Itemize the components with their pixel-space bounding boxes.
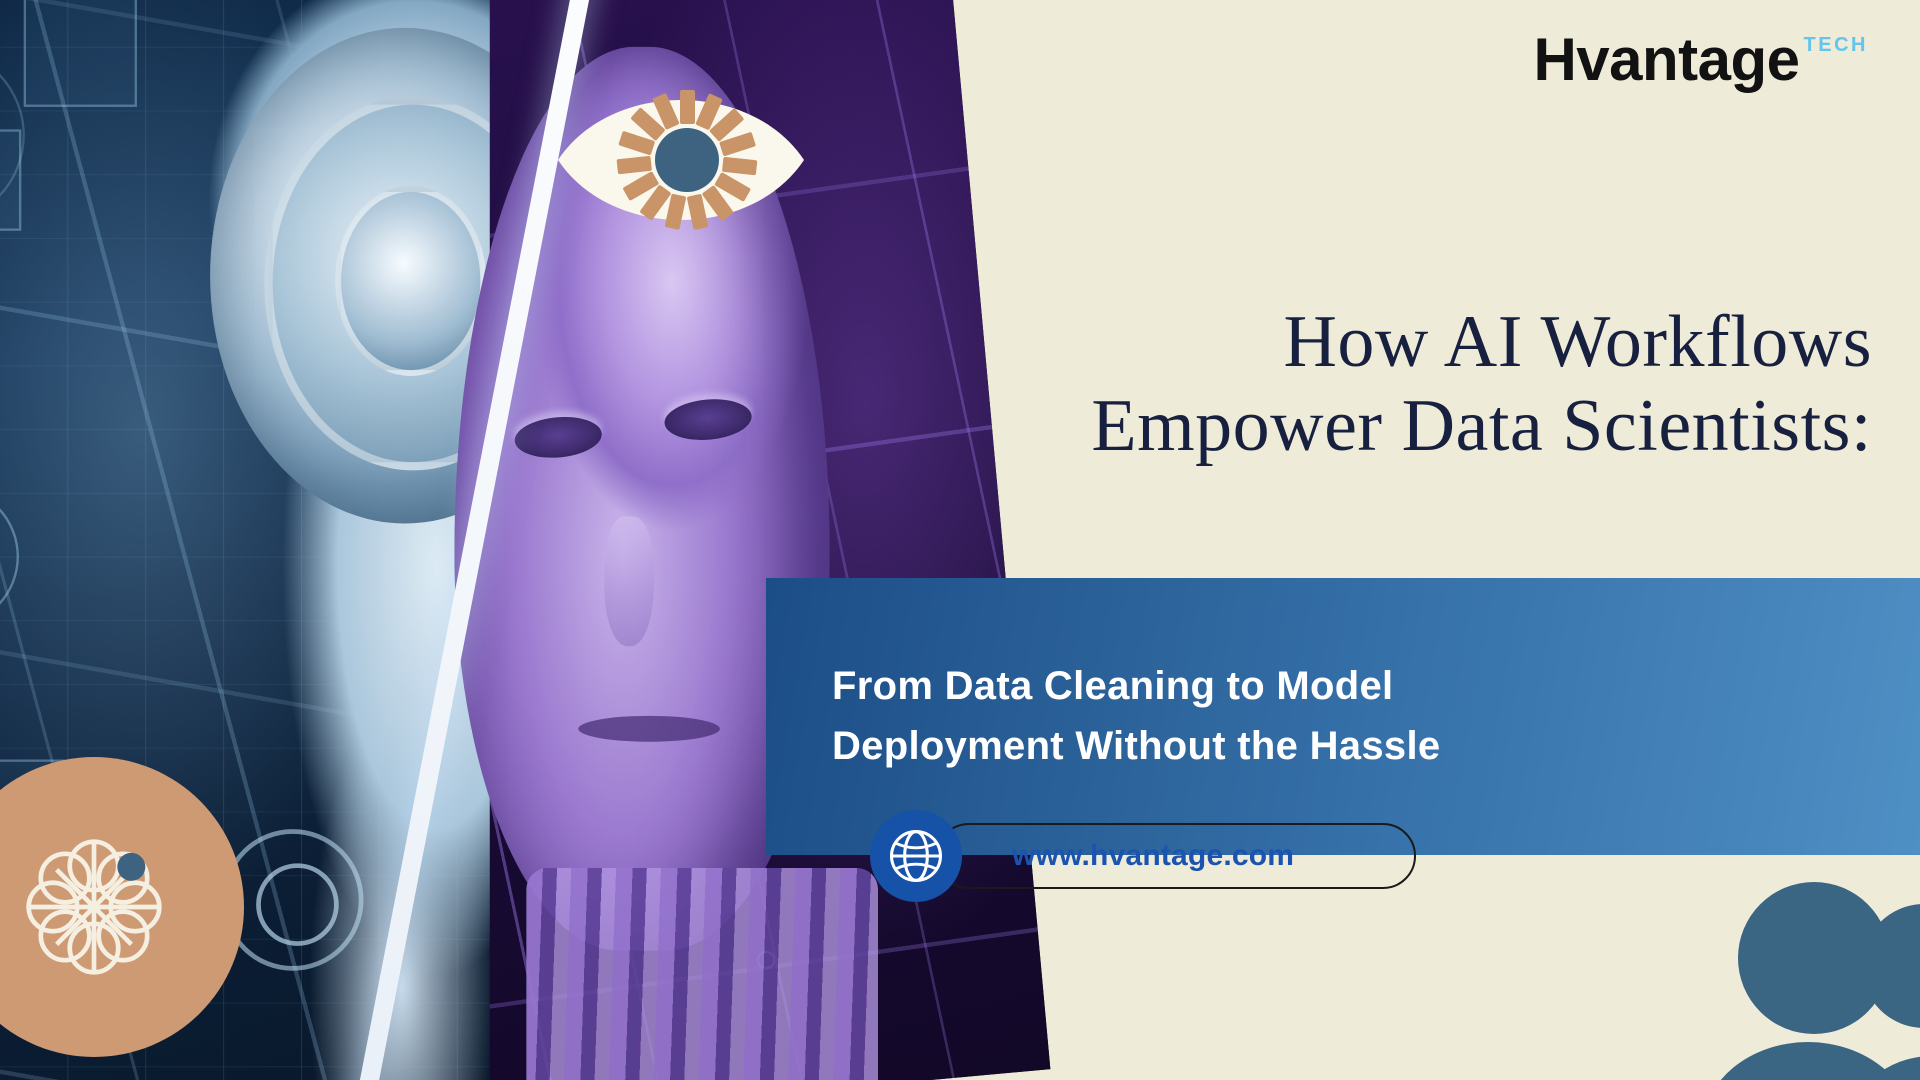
brand-logo[interactable]: Hvantage TECH [1533, 30, 1868, 90]
page-title: How AI Workflows Empower Data Scientists… [762, 300, 1872, 469]
headline-line-1: How AI Workflows [762, 300, 1872, 384]
website-cta[interactable]: www.hvantage.com [870, 810, 1416, 902]
circuit-ring-icon [0, 47, 25, 224]
website-url-text: www.hvantage.com [1012, 839, 1294, 873]
schematic-box [0, 129, 21, 230]
website-url-pill[interactable]: www.hvantage.com [936, 823, 1416, 889]
logo-wordmark: Hvantage [1533, 30, 1799, 90]
android-neck-cables [527, 869, 878, 1080]
banner-canvas: Hvantage TECH How AI Workflows Empower D… [0, 0, 1920, 1080]
subtitle-text: From Data Cleaning to Model Deployment W… [766, 657, 1526, 775]
android-mouth [578, 716, 720, 742]
eye-icon [556, 72, 806, 247]
user-avatar-icon [1696, 880, 1920, 1080]
globe-icon [870, 810, 962, 902]
atom-icon [10, 823, 178, 991]
android-eye-right [663, 396, 753, 444]
headline-line-2: Empower Data Scientists: [762, 384, 1872, 468]
android-nose [604, 517, 654, 647]
android-eye-left [512, 414, 602, 462]
logo-suffix: TECH [1804, 34, 1868, 57]
circuit-ring-icon [0, 485, 19, 627]
